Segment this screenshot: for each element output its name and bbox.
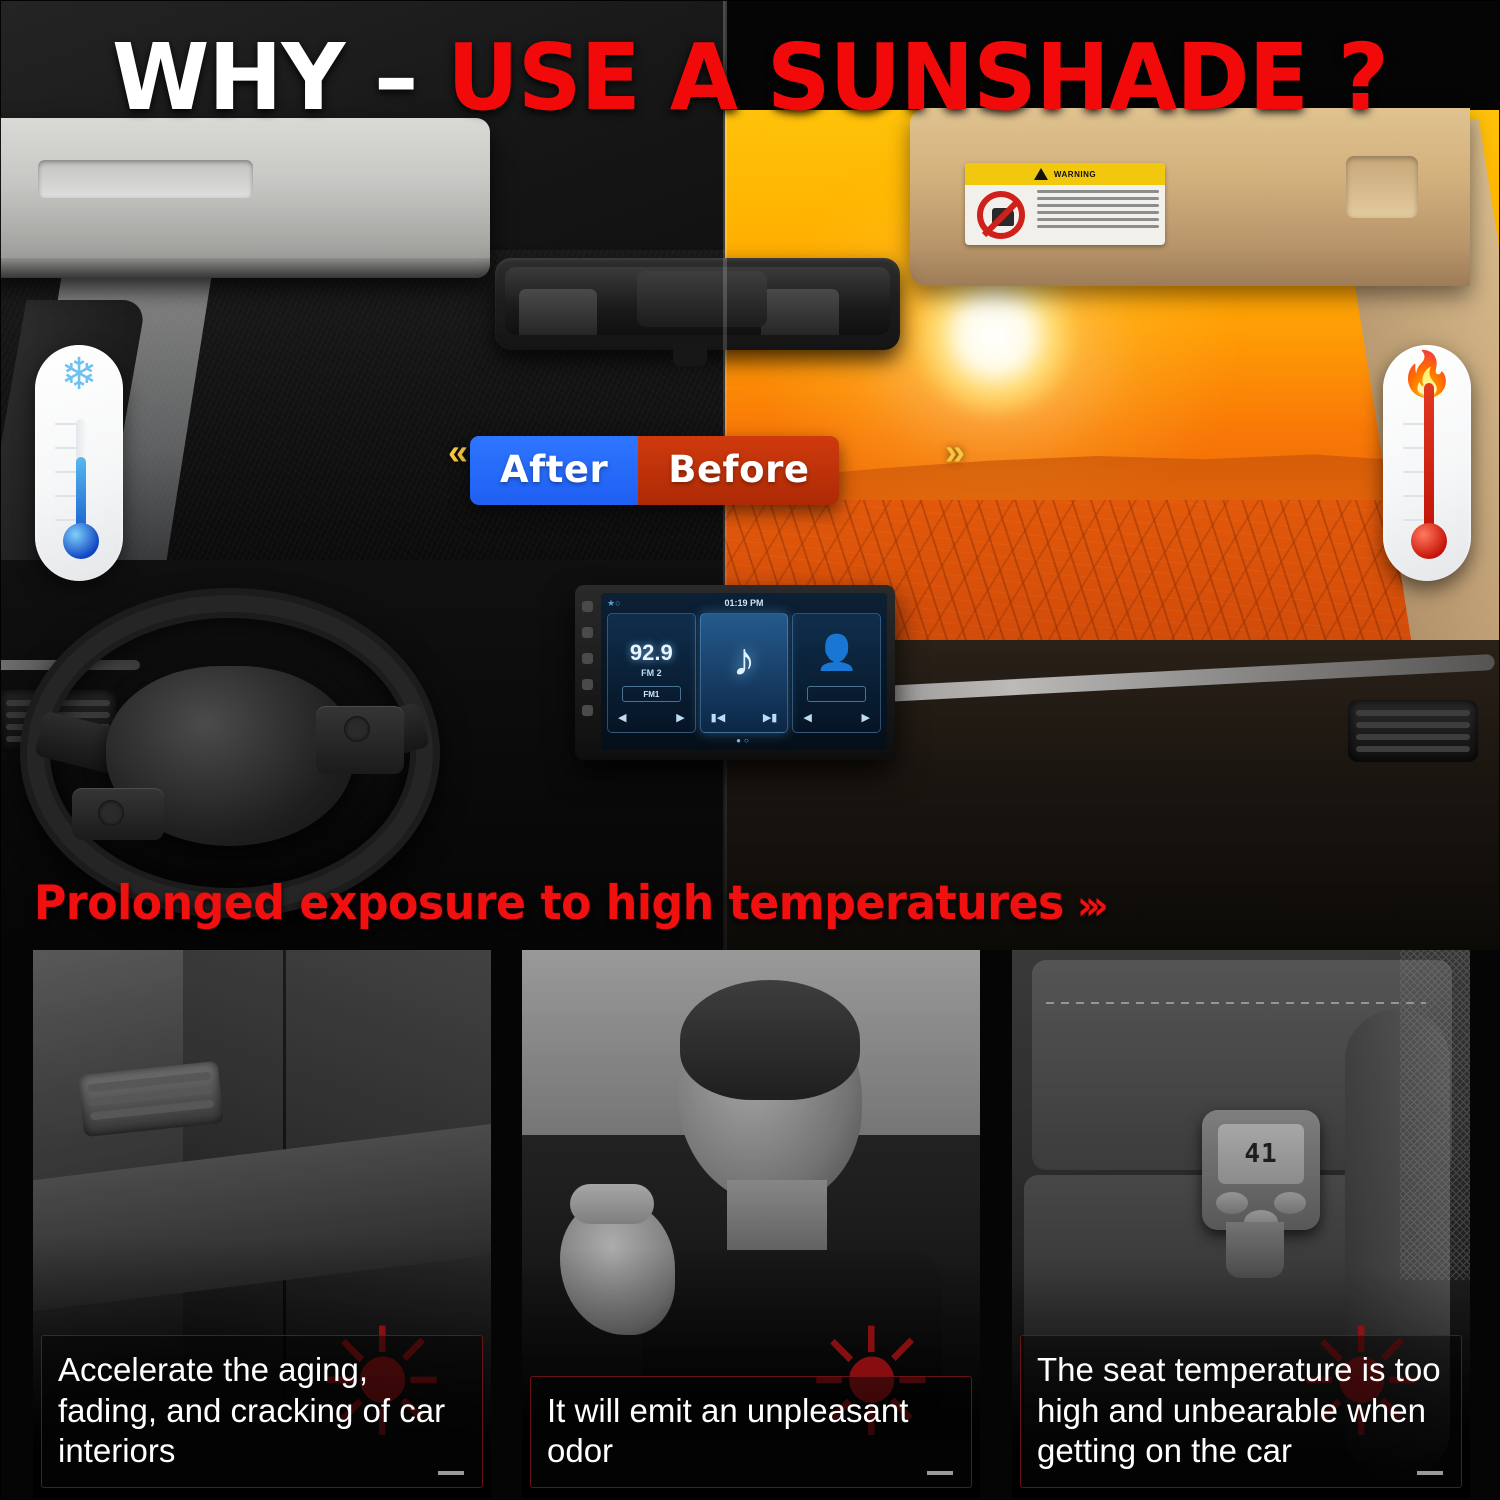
profile-card[interactable]: 👤 ◀ ▶	[792, 613, 881, 733]
benefit-cards: ☀ Accelerate the aging, fading, and crac…	[0, 950, 1500, 1500]
screen-cards: 92.9 FM 2 FM1 ◀ ▶ ♪ ▮◀ ▶▮	[601, 613, 887, 733]
media-card[interactable]: ♪ ▮◀ ▶▮	[700, 613, 789, 733]
page-title: WHY – USE A SUNSHADE ?	[30, 32, 1470, 124]
rearview-mirror	[495, 258, 900, 350]
section-heading-text: Prolonged exposure to high temperatures	[34, 876, 1064, 931]
visor-slot	[1346, 156, 1418, 218]
radio-band: FM 2	[608, 668, 695, 678]
cold-thermometer: ❄	[35, 345, 123, 581]
mirror-headrest-reflection	[637, 271, 767, 327]
profile-prev-icon[interactable]: ◀	[803, 711, 811, 724]
card-caption-text: Accelerate the aging, fading, and cracki…	[58, 1351, 445, 1469]
mirror-stem	[673, 344, 707, 366]
snowflake-icon: ❄	[35, 353, 123, 397]
mirror-glass	[505, 267, 890, 335]
section-heading: Prolonged exposure to high temperatures›…	[34, 876, 1101, 931]
visor-warning-label: WARNING	[965, 163, 1165, 245]
wheel-buttons-right	[316, 706, 404, 774]
profile-next-icon[interactable]: ▶	[862, 711, 870, 724]
screen-status-bar: ★○ 01:19 PM	[601, 593, 887, 613]
section-heading-chevrons-icon: ›››	[1064, 883, 1101, 929]
card-seat-temperature: 41 ☀ The seat temperature is too high an…	[1012, 950, 1470, 1498]
bluetooth-icon: ★○	[607, 598, 621, 609]
home-icon	[582, 627, 593, 638]
page-title-red: USE A SUNSHADE ?	[447, 24, 1388, 131]
before-after-hero: WARNING	[0, 0, 1500, 950]
card-caption: The seat temperature is too high and unb…	[1020, 1335, 1462, 1488]
screen-clock: 01:19 PM	[724, 598, 763, 608]
radio-frequency: 92.9	[608, 640, 695, 666]
media-next-icon[interactable]: ▶▮	[763, 711, 778, 724]
thermometer-fill	[76, 457, 86, 533]
thermometer-bulb	[1411, 523, 1447, 559]
profile-controls[interactable]: ◀ ▶	[803, 711, 870, 724]
thermometer-fill	[1424, 383, 1434, 533]
warning-triangle-icon	[1034, 168, 1048, 180]
card-caption: Accelerate the aging, fading, and cracki…	[41, 1335, 483, 1488]
before-badge[interactable]: Before	[638, 436, 839, 505]
card-aging: ☀ Accelerate the aging, fading, and crac…	[33, 950, 491, 1498]
before-after-toggle[interactable]: After Before	[470, 436, 839, 505]
warning-label-textlines	[1037, 185, 1165, 245]
media-prev-icon[interactable]: ▮◀	[711, 711, 726, 724]
visor-slot	[38, 160, 253, 198]
infotainment-head-unit: ★○ 01:19 PM 92.9 FM 2 FM1 ◀ ▶ ♪	[575, 585, 895, 760]
infrared-thermometer: 41	[1202, 1110, 1320, 1275]
product-infographic: WARNING	[0, 0, 1500, 1500]
visor-edge	[0, 258, 490, 278]
settings-icon	[582, 679, 593, 690]
person-icon: 👤	[793, 636, 880, 670]
no-child-seat-icon	[965, 185, 1037, 245]
caption-dash	[927, 1471, 953, 1475]
card-odor: ☀ It will emit an unpleasant odor	[522, 950, 980, 1498]
volume-icon	[582, 653, 593, 664]
thermometer-bulb	[63, 523, 99, 559]
radio-preset[interactable]: FM1	[622, 686, 681, 702]
card-caption-text: The seat temperature is too high and unb…	[1037, 1351, 1441, 1469]
infotainment-screen[interactable]: ★○ 01:19 PM 92.9 FM 2 FM1 ◀ ▶ ♪	[601, 593, 887, 750]
caption-dash	[438, 1471, 464, 1475]
menu-icon	[582, 705, 593, 716]
caption-dash	[1417, 1471, 1443, 1475]
screen-pager-dots: ●○	[601, 733, 887, 745]
prev-icon[interactable]: ◀	[618, 711, 626, 724]
hot-thermometer: 🔥	[1383, 345, 1471, 581]
music-note-icon: ♪	[701, 636, 788, 682]
page-title-white: WHY –	[112, 24, 417, 131]
next-icon[interactable]: ▶	[676, 711, 684, 724]
after-sun-visor	[0, 118, 490, 278]
wheel-buttons-left	[72, 788, 164, 840]
thermometer-display: 41	[1218, 1124, 1304, 1184]
profile-pill[interactable]	[807, 686, 866, 702]
left-chevrons-icon: ‹‹	[448, 431, 464, 473]
warning-label-body	[965, 185, 1165, 245]
media-controls[interactable]: ▮◀ ▶▮	[711, 711, 778, 724]
before-sun-visor: WARNING	[910, 108, 1470, 286]
warning-text: WARNING	[1054, 170, 1096, 179]
warning-label-header: WARNING	[965, 163, 1165, 185]
steering-wheel	[20, 588, 440, 918]
card-caption-text: It will emit an unpleasant odor	[547, 1392, 908, 1469]
radio-card[interactable]: 92.9 FM 2 FM1 ◀ ▶	[607, 613, 696, 733]
thermometer-reading: 41	[1244, 1139, 1277, 1169]
before-air-vent	[1348, 700, 1478, 762]
right-chevrons-icon: ››	[945, 431, 961, 473]
power-icon	[582, 601, 593, 612]
head-unit-side-buttons[interactable]	[582, 601, 593, 716]
after-badge[interactable]: After	[470, 436, 638, 505]
radio-seek-controls[interactable]: ◀ ▶	[618, 711, 685, 724]
card-caption: It will emit an unpleasant odor	[530, 1376, 972, 1489]
